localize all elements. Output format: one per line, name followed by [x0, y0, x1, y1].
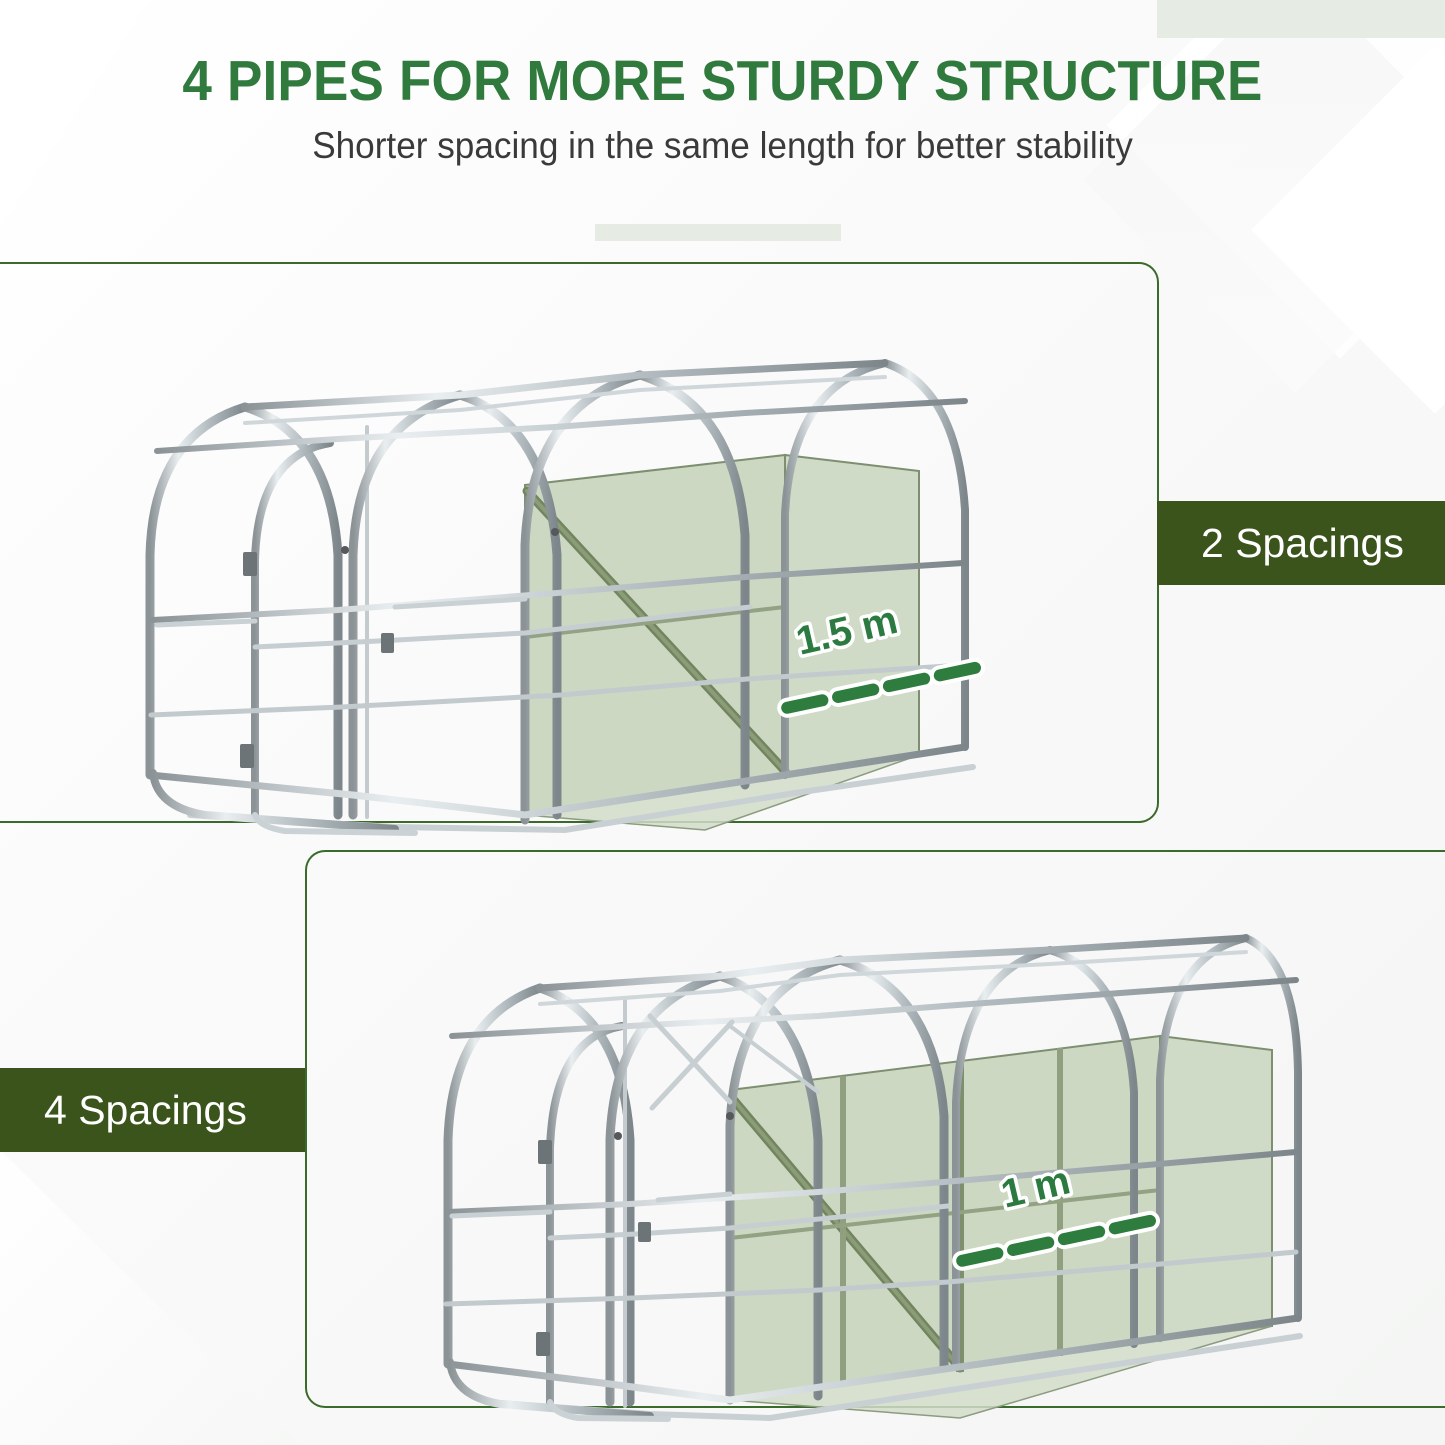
greenhouse-illustration-2-spacings: 1.5 m [95, 255, 985, 833]
page-subtitle: Shorter spacing in the same length for b… [36, 125, 1409, 167]
corner-triangle-bottom-left [0, 1150, 300, 1445]
accent-bar [595, 224, 841, 241]
badge-label-top: 2 Spacings [1201, 520, 1404, 567]
frame-clips [240, 528, 559, 768]
top-right-green-chip [1157, 0, 1445, 38]
badge-label-bottom: 4 Spacings [44, 1087, 247, 1134]
badge-2-spacings: 2 Spacings [1157, 501, 1445, 585]
page-title: 4 PIPES FOR MORE STURDY STRUCTURE [51, 48, 1395, 114]
greenhouse-illustration-4-spacings: 1 m [400, 840, 1300, 1420]
corner-triangle-top-left [0, 0, 150, 230]
badge-4-spacings: 4 Spacings [0, 1068, 305, 1152]
infographic-stage: 4 PIPES FOR MORE STURDY STRUCTURE Shorte… [0, 0, 1445, 1445]
